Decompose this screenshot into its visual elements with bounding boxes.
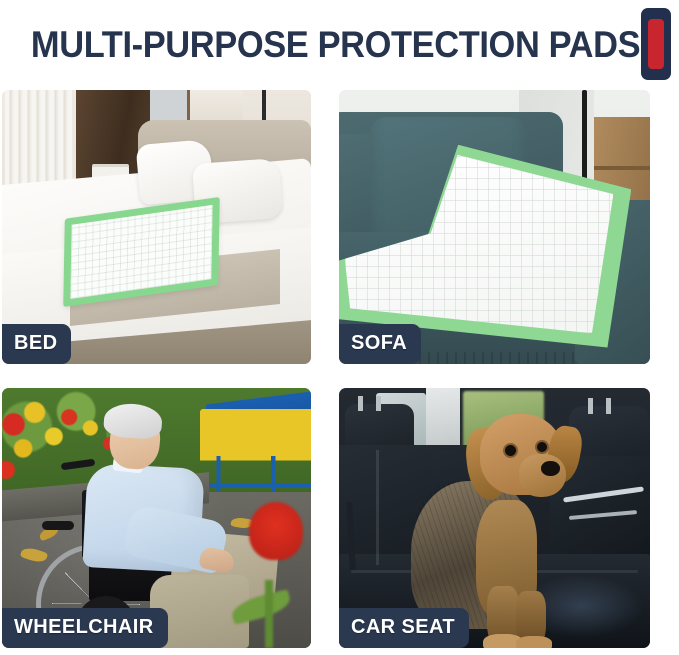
scene-sofa <box>339 90 650 364</box>
accent-bar-inner <box>648 19 664 69</box>
accent-bar-decoration <box>641 8 671 80</box>
page-title: MULTI-PURPOSE PROTECTION PADS <box>31 24 640 66</box>
dog-paw <box>516 636 552 648</box>
header-banner: MULTI-PURPOSE PROTECTION PADS <box>0 0 679 88</box>
panel-bed[interactable]: BED <box>2 90 311 364</box>
panel-label-car-seat: CAR SEAT <box>339 608 469 648</box>
panel-grid: BED SOFA <box>0 90 679 650</box>
dog-snout <box>519 454 566 497</box>
panel-label-bed: BED <box>2 324 71 364</box>
panel-car-seat[interactable]: CAR SEAT <box>339 388 650 648</box>
dog-eye <box>505 445 516 456</box>
panel-wheelchair[interactable]: WHEELCHAIR <box>2 388 311 648</box>
scene-bedroom <box>2 90 311 364</box>
panel-label-sofa: SOFA <box>339 324 421 364</box>
foreground-tulip <box>249 502 303 560</box>
wheelchair-armrest <box>42 521 74 530</box>
panel-label-wheelchair: WHEELCHAIR <box>2 608 168 648</box>
panel-sofa[interactable]: SOFA <box>339 90 650 364</box>
